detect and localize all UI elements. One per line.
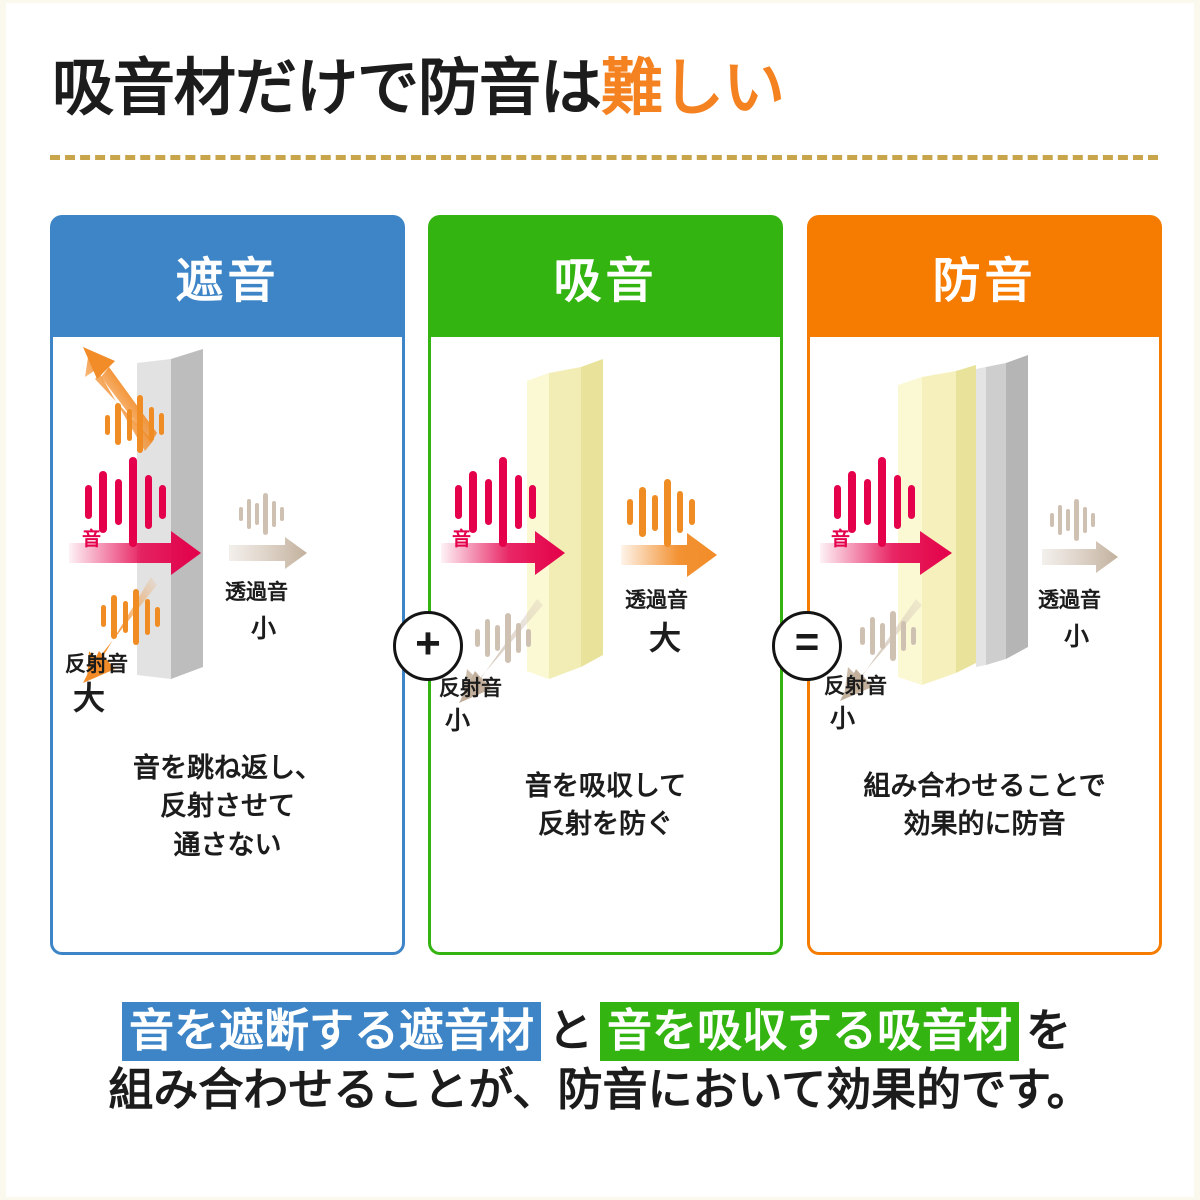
panel-combined bbox=[898, 355, 1028, 685]
label-reflected-level: 小 bbox=[830, 705, 855, 733]
card-soundproof-header: 防音 bbox=[807, 215, 1162, 337]
equals-icon: = bbox=[795, 621, 820, 663]
summary-text: 音を遮断する遮音材と音を吸収する吸音材を 組み合わせることが、防音において効果的… bbox=[6, 1001, 1194, 1120]
card-shield-header: 遮音 bbox=[50, 215, 405, 337]
card-absorb-header-label: 吸音 bbox=[553, 241, 657, 311]
panel-yellow-absorber bbox=[527, 359, 603, 679]
diagram-shield: 音 bbox=[53, 337, 402, 767]
page-title-main: 吸音材だけで防音は bbox=[52, 54, 601, 123]
summary-line-2: 組み合わせることが、防音において効果的です。 bbox=[6, 1060, 1194, 1119]
comparison-cards: 遮音 bbox=[50, 215, 1162, 955]
waveform-transmitted bbox=[239, 493, 284, 535]
card-soundproof-body: 音 bbox=[807, 337, 1162, 955]
card-soundproof-caption: 組み合わせることで 効果的に防音 bbox=[810, 767, 1159, 844]
summary-line-1: 音を遮断する遮音材と音を吸収する吸音材を bbox=[6, 1001, 1194, 1060]
waveform-transmitted bbox=[1050, 499, 1095, 541]
summary-absorb-material: 音を吸収する吸音材 bbox=[600, 1002, 1019, 1061]
summary-shield-material: 音を遮断する遮音材 bbox=[122, 1002, 541, 1061]
card-soundproof-header-label: 防音 bbox=[932, 241, 1036, 311]
plus-icon: + bbox=[415, 622, 441, 666]
label-reflected-name: 反射音 bbox=[824, 674, 887, 698]
diagram-absorb: 音 bbox=[431, 337, 780, 767]
label-reflected-name: 反射音 bbox=[439, 676, 502, 700]
label-reflected-name: 反射音 bbox=[65, 652, 128, 676]
card-shield-body: 音 bbox=[50, 337, 405, 955]
summary-conjunction: と bbox=[541, 1005, 600, 1056]
label-transmitted-level: 小 bbox=[1064, 623, 1089, 651]
summary-particle: を bbox=[1019, 1005, 1078, 1056]
card-shield-caption: 音を跳ね返し、 反射させて 通さない bbox=[53, 749, 402, 864]
connector-equals: = bbox=[772, 611, 842, 681]
label-reflected-level: 小 bbox=[445, 707, 470, 735]
waveform-transmitted bbox=[627, 479, 695, 547]
card-absorb-body: 音 bbox=[428, 337, 783, 955]
card-shield: 遮音 bbox=[50, 215, 405, 955]
label-transmitted-level: 小 bbox=[251, 615, 276, 643]
label-transmitted-name: 透過音 bbox=[1038, 588, 1101, 612]
card-soundproof: 防音 bbox=[807, 215, 1162, 955]
card-shield-header-label: 遮音 bbox=[175, 241, 279, 311]
label-transmitted-level: 大 bbox=[649, 620, 681, 656]
arrow-transmitted bbox=[229, 537, 307, 569]
infographic-page: 吸音材だけで防音は難しい 遮音 bbox=[0, 0, 1200, 1200]
diagram-soundproof: 音 bbox=[810, 337, 1159, 767]
page-title: 吸音材だけで防音は難しい bbox=[52, 37, 784, 127]
card-absorb: 吸音 bbox=[428, 215, 783, 955]
connector-plus: + bbox=[393, 611, 463, 681]
card-absorb-header: 吸音 bbox=[428, 215, 783, 337]
title-divider bbox=[50, 155, 1158, 160]
label-transmitted-name: 透過音 bbox=[625, 588, 688, 612]
label-reflected-level: 大 bbox=[73, 680, 105, 716]
arrow-transmitted bbox=[1042, 541, 1118, 573]
card-absorb-caption: 音を吸収して 反射を防ぐ bbox=[431, 767, 780, 844]
page-title-accent: 難しい bbox=[601, 54, 784, 123]
label-transmitted-name: 透過音 bbox=[225, 580, 288, 604]
